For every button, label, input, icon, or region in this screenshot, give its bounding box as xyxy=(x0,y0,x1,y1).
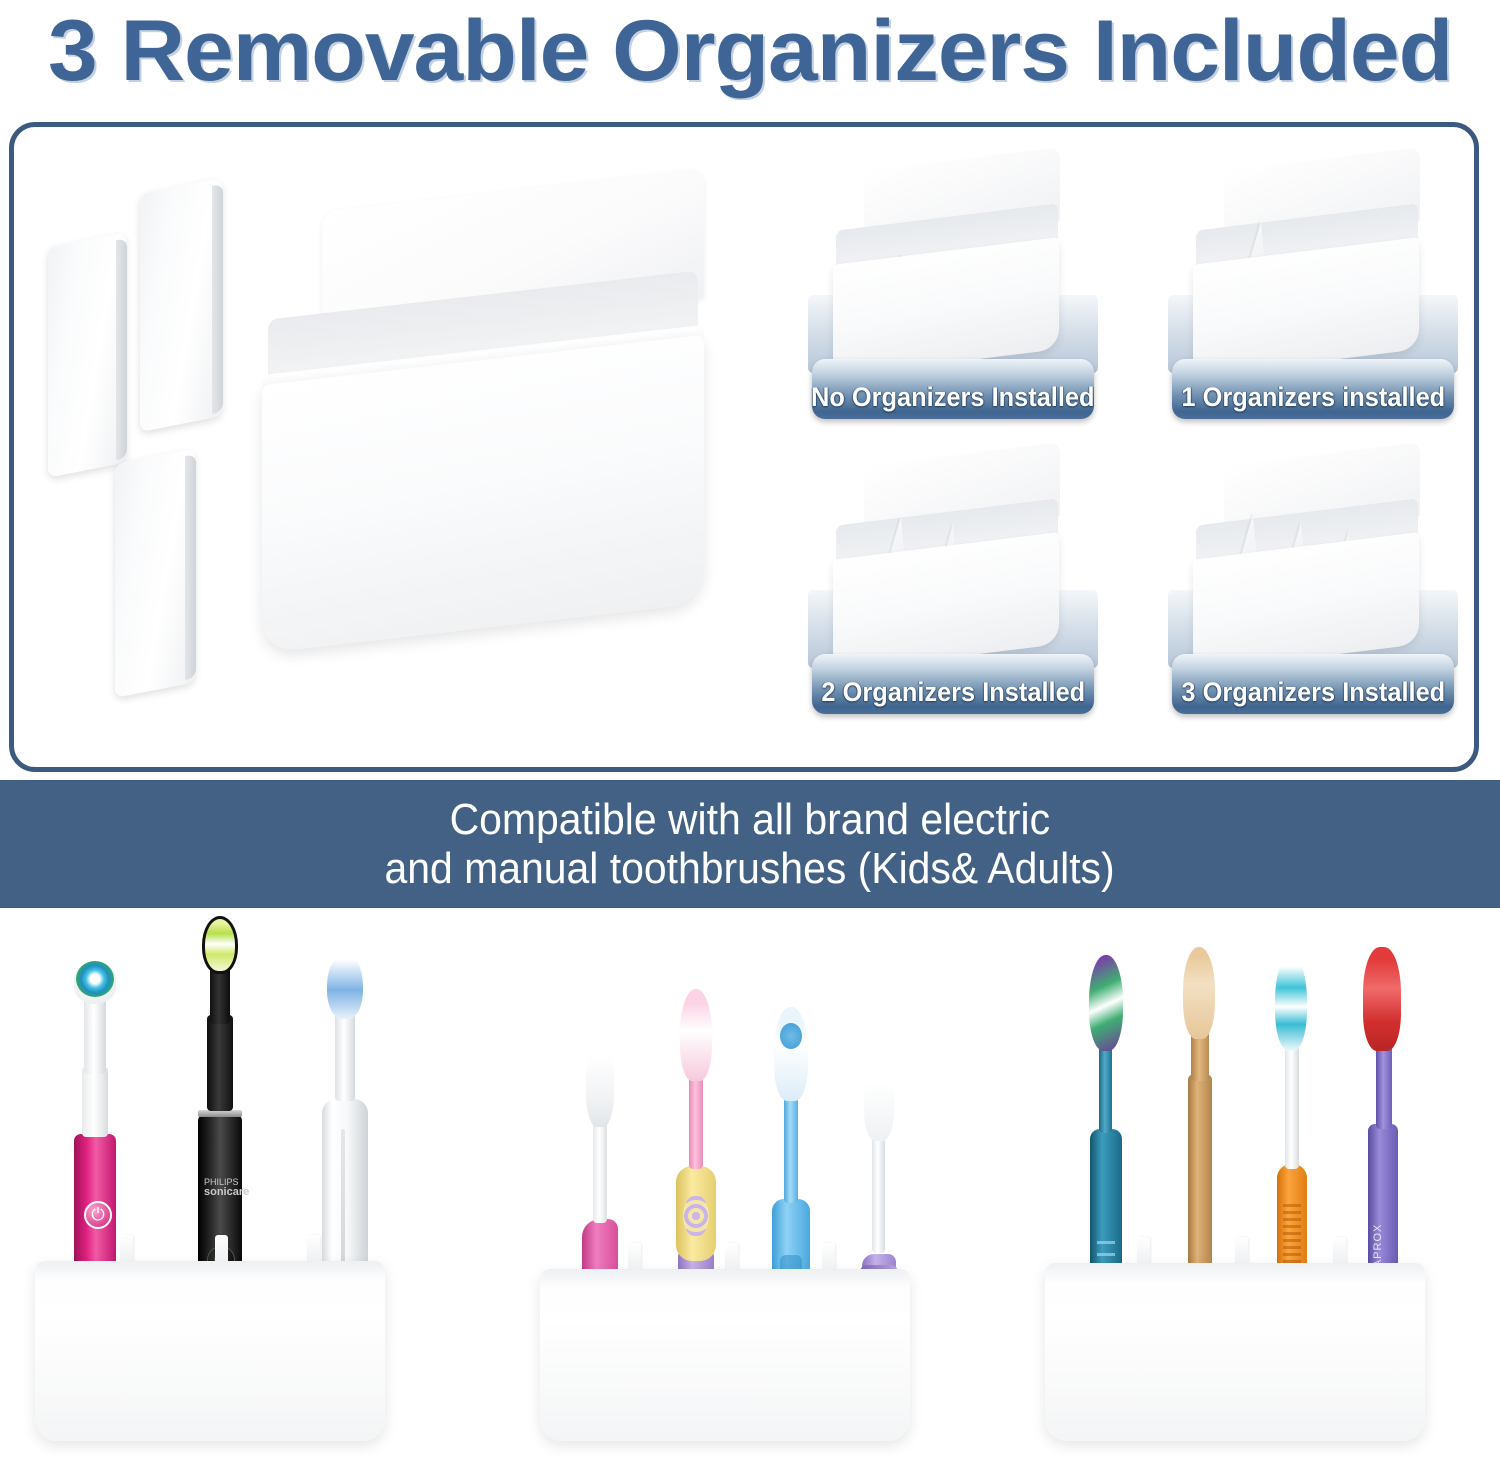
thumbnail-holder xyxy=(1188,454,1428,644)
thumbnail-holder xyxy=(1188,159,1428,349)
config-badge-label: 2 Organizers Installed xyxy=(821,677,1085,708)
config-badge-label: 1 Organizers installed xyxy=(1181,382,1445,413)
thumbnail-holder xyxy=(828,454,1068,644)
holder-rim xyxy=(540,1269,910,1291)
usage-photo-row: ⏻ ⏻ PHILIPSsonicare xyxy=(0,908,1500,1469)
divider-plate xyxy=(48,232,126,477)
photo-kids-toothbrushes xyxy=(520,908,950,1469)
photo-electric-toothbrushes: ⏻ ⏻ PHILIPSsonicare xyxy=(20,908,490,1469)
divider-plates-group xyxy=(30,140,260,720)
config-badge: 1 Organizers installed xyxy=(1172,359,1454,419)
holder-front-face xyxy=(262,335,704,653)
config-thumbnail-none[interactable]: No Organizers Installed xyxy=(800,155,1100,425)
power-button-icon: ⏻ xyxy=(84,1201,112,1229)
page-title: 3 Removable Organizers Included xyxy=(0,0,1500,106)
toothbrush-holder xyxy=(540,1269,910,1441)
toothbrush-holder xyxy=(1045,1263,1425,1441)
config-thumbnail-one[interactable]: 1 Organizers installed xyxy=(1160,155,1460,425)
config-thumbnail-three[interactable]: 3 Organizers Installed xyxy=(1160,450,1460,720)
toothbrush-holder xyxy=(35,1261,385,1441)
config-badge: No Organizers Installed xyxy=(812,359,1094,419)
banner-line-1: Compatible with all brand electric xyxy=(450,795,1050,844)
page-title-text: 3 Removable Organizers Included xyxy=(48,2,1452,101)
brand-mark-philips-sonicare: PHILIPSsonicare xyxy=(204,1177,236,1199)
thumbnail-holder xyxy=(828,159,1068,349)
config-thumbnail-two[interactable]: 2 Organizers Installed xyxy=(800,450,1100,720)
divider-plate xyxy=(115,448,195,698)
photo-manual-toothbrushes: CURAPROX xyxy=(1030,908,1480,1469)
banner-line-2: and manual toothbrushes (Kids& Adults) xyxy=(385,844,1115,893)
config-badge: 3 Organizers Installed xyxy=(1172,654,1454,714)
main-holder xyxy=(250,190,720,650)
holder-rim xyxy=(35,1261,385,1283)
config-badge-label: 3 Organizers Installed xyxy=(1181,677,1445,708)
compatibility-banner: Compatible with all brand electric and m… xyxy=(0,780,1500,908)
config-badge-label: No Organizers Installed xyxy=(811,382,1094,413)
holder-rim xyxy=(1045,1263,1425,1285)
divider-plate xyxy=(140,178,222,432)
config-badge: 2 Organizers Installed xyxy=(812,654,1094,714)
